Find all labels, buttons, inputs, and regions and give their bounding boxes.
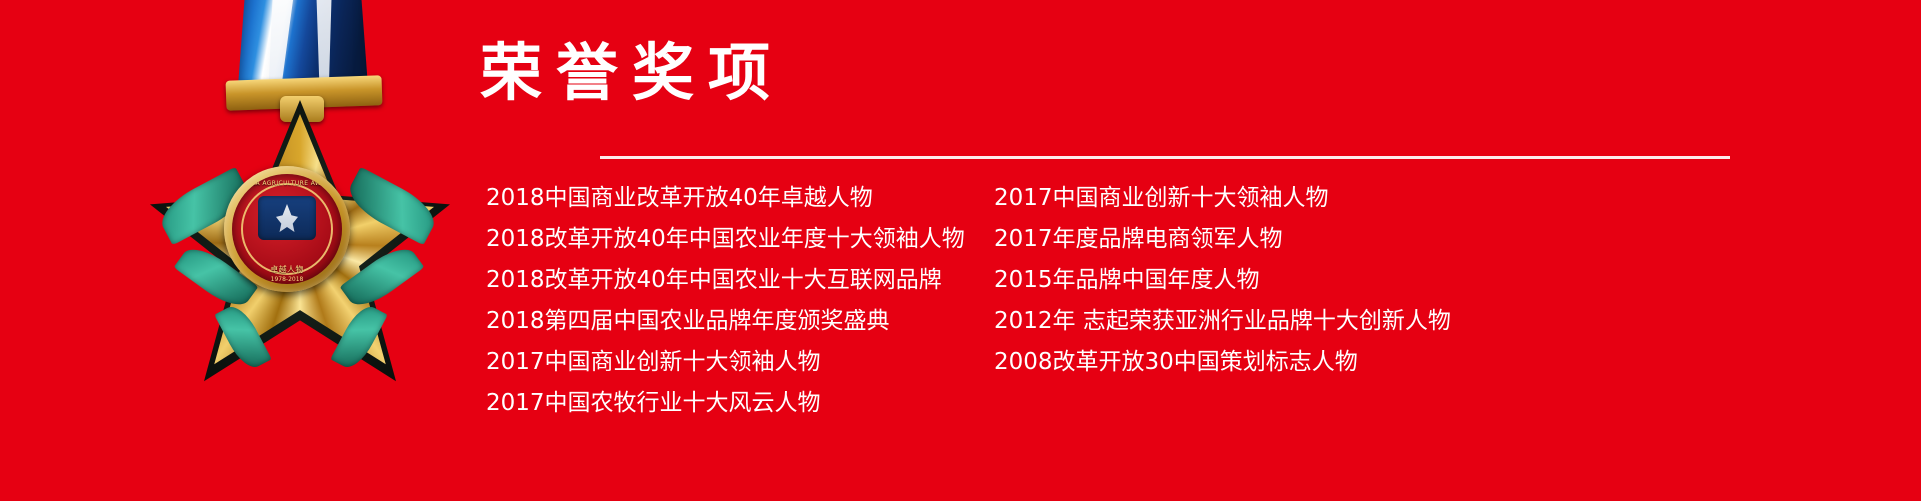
page-title: 荣誉奖项 — [480, 42, 784, 104]
medal-star-icon: CHINA AGRICULTURE AWARD 卓越人物 1978-2018 — [150, 100, 450, 390]
award-item: 2017中国商业创新十大领袖人物 — [486, 342, 986, 383]
award-item: 2012年 志起荣获亚洲行业品牌十大创新人物 — [994, 301, 1494, 342]
medal-disc-face: CHINA AGRICULTURE AWARD 卓越人物 1978-2018 — [232, 174, 342, 284]
medal-disc-year-text: 1978-2018 — [232, 276, 342, 283]
award-item: 2017中国农牧行业十大风云人物 — [486, 383, 986, 424]
award-item: 2008改革开放30中国策划标志人物 — [994, 342, 1494, 383]
medal-disc-bottom-text: 卓越人物 — [232, 264, 342, 275]
award-item: 2018改革开放40年中国农业年度十大领袖人物 — [486, 219, 986, 260]
title-divider — [600, 156, 1730, 159]
award-item: 2017中国商业创新十大领袖人物 — [994, 178, 1494, 219]
award-item: 2018中国商业改革开放40年卓越人物 — [486, 178, 986, 219]
award-item: 2018改革开放40年中国农业十大互联网品牌 — [486, 260, 986, 301]
honor-medal: CHINA AGRICULTURE AWARD 卓越人物 1978-2018 — [120, 0, 480, 412]
awards-column-right: 2017中国商业创新十大领袖人物 2017年度品牌电商领军人物 2015年品牌中… — [994, 178, 1494, 424]
award-item: 2017年度品牌电商领军人物 — [994, 219, 1494, 260]
award-item: 2015年品牌中国年度人物 — [994, 260, 1494, 301]
awards-column-left: 2018中国商业改革开放40年卓越人物 2018改革开放40年中国农业年度十大领… — [486, 178, 986, 424]
award-item: 2018第四届中国农业品牌年度颁奖盛典 — [486, 301, 986, 342]
medal-disc-top-text: CHINA AGRICULTURE AWARD — [232, 180, 342, 187]
awards-list: 2018中国商业改革开放40年卓越人物 2018改革开放40年中国农业年度十大领… — [486, 178, 1916, 424]
medal-disc-gold-rim: CHINA AGRICULTURE AWARD 卓越人物 1978-2018 — [224, 166, 350, 292]
honor-awards-banner: CHINA AGRICULTURE AWARD 卓越人物 1978-2018 荣… — [0, 0, 1921, 501]
content-panel: 荣誉奖项 2018中国商业改革开放40年卓越人物 2018改革开放40年中国农业… — [480, 0, 1921, 501]
medal-disc-emblem-icon — [258, 196, 316, 240]
